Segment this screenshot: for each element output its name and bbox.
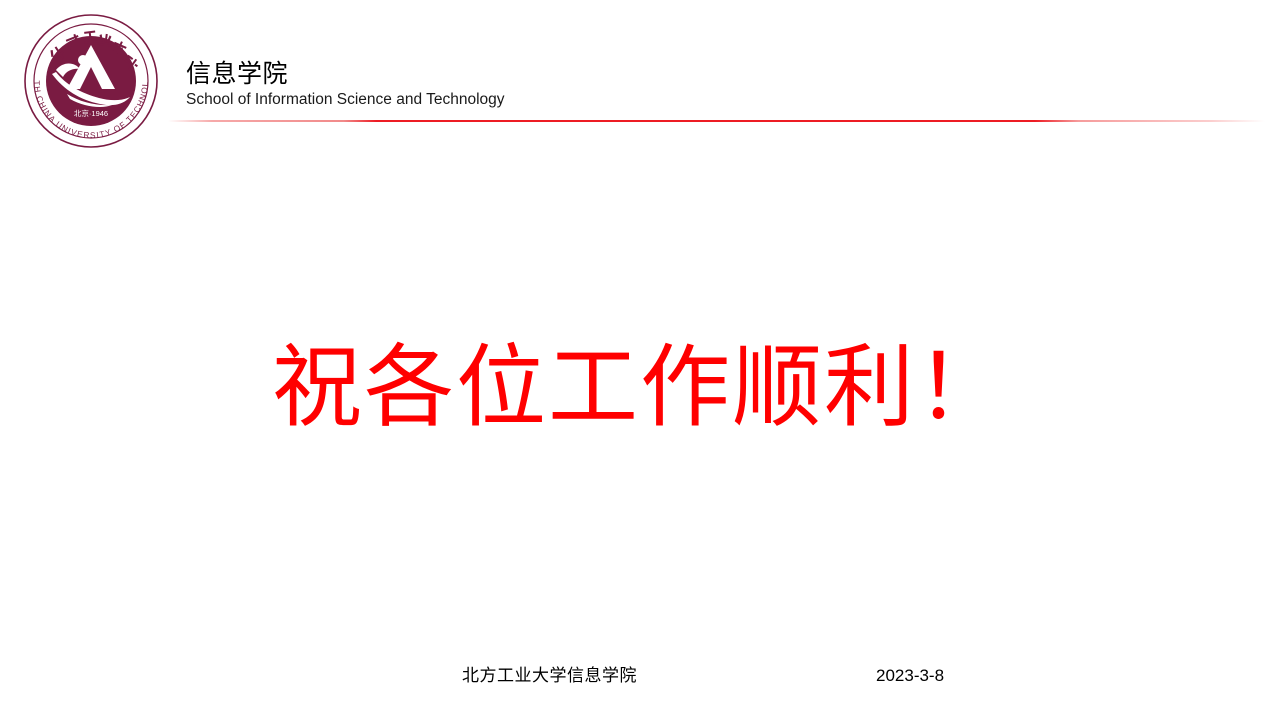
header-divider-line	[168, 120, 1265, 122]
footer-organization: 北方工业大学信息学院	[462, 664, 637, 688]
presentation-slide: 北京·1946 NORTH CHINA UNIVERSITY OF TECHNO…	[0, 0, 1280, 720]
department-name-cn: 信息学院	[186, 59, 505, 89]
slide-header: 北京·1946 NORTH CHINA UNIVERSITY OF TECHNO…	[0, 0, 1280, 140]
header-text-block: 信息学院 School of Information Science and T…	[186, 59, 505, 109]
university-logo: 北京·1946 NORTH CHINA UNIVERSITY OF TECHNO…	[22, 12, 160, 150]
logo-founded-text: 北京·1946	[74, 108, 108, 118]
footer-date: 2023-3-8	[876, 664, 944, 688]
slide-footer: 北方工业大学信息学院 2023-3-8	[0, 664, 1280, 698]
main-title: 祝各位工作顺利！	[0, 336, 1280, 440]
slide-body: 祝各位工作顺利！	[0, 140, 1280, 640]
department-name-en: School of Information Science and Techno…	[186, 90, 505, 109]
